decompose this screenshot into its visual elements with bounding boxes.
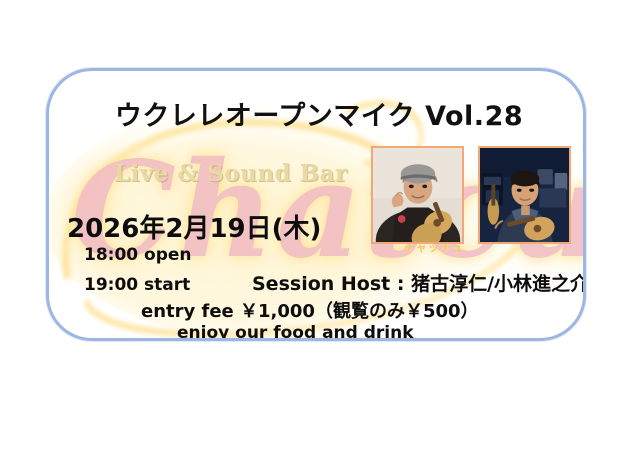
host-photo-ukulele-cap bbox=[371, 146, 464, 244]
entry-fee: entry fee ￥1,000（観覧のみ￥500） bbox=[141, 297, 479, 323]
host-photo-ukulele-hoodie bbox=[478, 146, 571, 244]
food-and-drink-note: enjoy our food and drink bbox=[177, 323, 414, 341]
start-time: 19:00 start bbox=[84, 275, 190, 295]
session-host: Session Host : 猪古淳仁/小林進之介 bbox=[252, 269, 586, 296]
flyer-content: ウクレレオープンマイク Vol.28 2026年2月19日(木) 18:00 o… bbox=[49, 71, 583, 338]
flyer-title: ウクレレオープンマイク Vol.28 bbox=[49, 94, 586, 133]
open-time: 18:00 open bbox=[84, 245, 192, 265]
event-date: 2026年2月19日(木) bbox=[67, 208, 321, 245]
flyer-card: Chatcu チャッチュ Live & Sound Bar ウクレレオープンマイ… bbox=[46, 68, 586, 341]
